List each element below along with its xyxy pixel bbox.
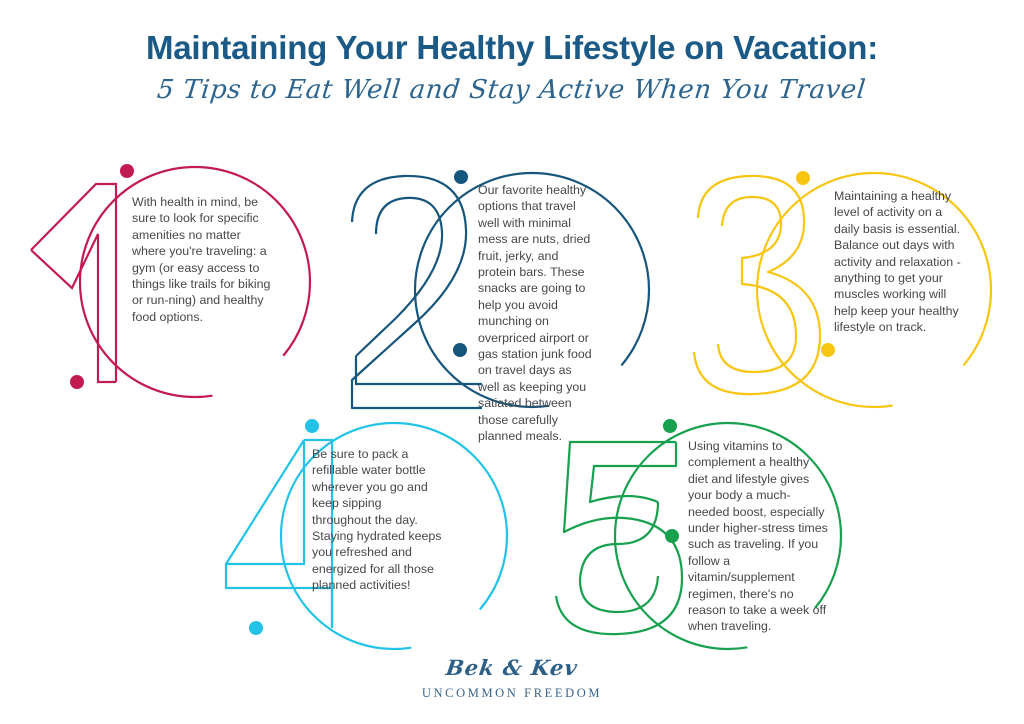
tip-2-text: Our favorite healthy options that travel… — [478, 182, 596, 445]
infographic-page: Maintaining Your Healthy Lifestyle on Va… — [0, 0, 1024, 724]
tip-4-dot-top — [305, 419, 319, 433]
tip-2-numeral-outer-stroke — [352, 176, 482, 408]
tip-5-numeral-bar-stroke — [590, 442, 676, 502]
tip-card-3: Maintaining a healthy level of activity … — [682, 160, 1002, 420]
brand-tagline: UNCOMMON FREEDOM — [0, 680, 1024, 701]
tip-1-dot-bottom — [70, 375, 84, 389]
page-subtitle: 5 Tips to Eat Well and Stay Active When … — [0, 66, 1024, 105]
tip-3-text: Maintaining a healthy level of activity … — [834, 188, 964, 336]
tip-2-dot-mid — [453, 343, 467, 357]
tip-5-dot-top — [663, 419, 677, 433]
tip-5-numeral-outer-stroke — [556, 442, 682, 634]
page-title: Maintaining Your Healthy Lifestyle on Va… — [0, 0, 1024, 66]
brand-name: Bek & Kev — [0, 655, 1024, 680]
tip-4-dot-bottom — [249, 621, 263, 635]
tip-card-5: Using vitamins to complement a healthy d… — [542, 410, 862, 660]
tip-3-dot-top — [796, 171, 810, 185]
tip-card-2: Our favorite healthy options that travel… — [342, 160, 652, 420]
tip-3-dot-mid — [821, 343, 835, 357]
tip-1-text: With health in mind, be sure to look for… — [132, 194, 272, 325]
header: Maintaining Your Healthy Lifestyle on Va… — [0, 0, 1024, 105]
tip-5-dot-mid — [665, 529, 679, 543]
tip-2-numeral-inner-stroke — [356, 198, 442, 356]
tip-5-text: Using vitamins to complement a healthy d… — [688, 438, 828, 635]
tip-2-dot-top — [454, 170, 468, 184]
tip-card-4: Be sure to pack a refillable water bottl… — [222, 410, 522, 660]
tip-1-numeral-right-stroke — [31, 234, 116, 382]
tip-4-text: Be sure to pack a refillable water bottl… — [312, 446, 444, 594]
footer: Bek & Kev UNCOMMON FREEDOM — [0, 655, 1024, 701]
tip-1-dot-top — [120, 164, 134, 178]
tip-card-1: With health in mind, be sure to look for… — [20, 150, 320, 410]
